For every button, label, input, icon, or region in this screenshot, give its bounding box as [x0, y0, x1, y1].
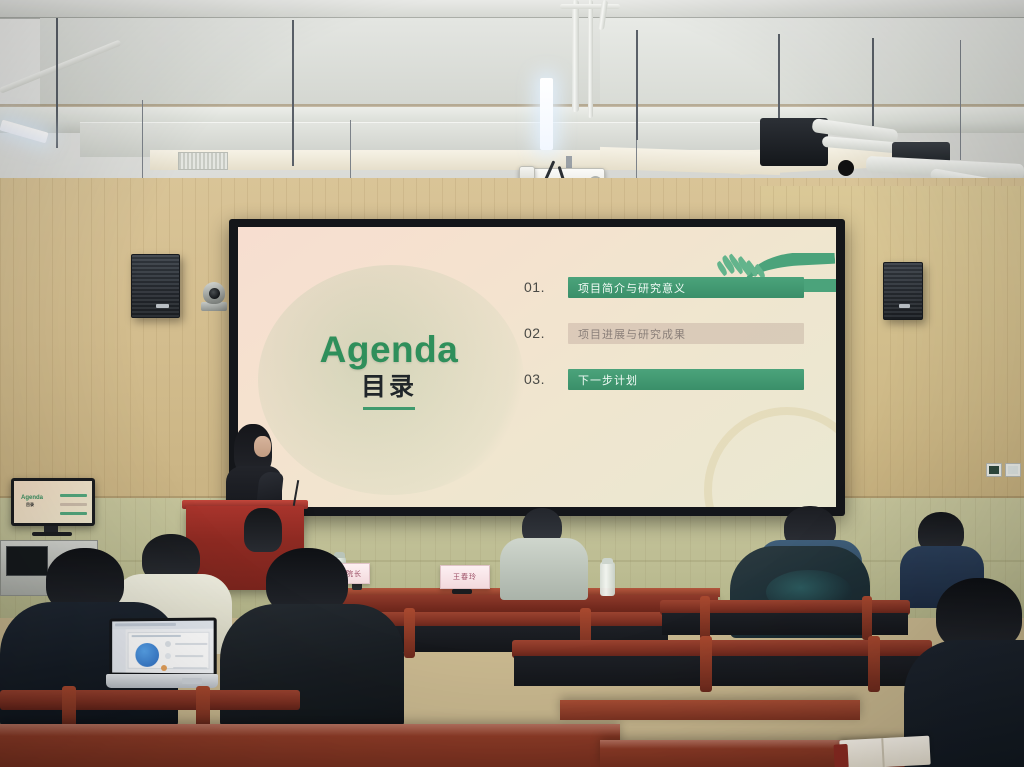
ceiling — [0, 0, 1024, 196]
presenter — [222, 424, 284, 510]
agenda-item-label: 下一步计划 — [578, 372, 638, 388]
foreground-desk — [560, 700, 860, 720]
wall-speaker-left — [131, 254, 180, 318]
slide-title-block: Agenda 目录 — [278, 331, 500, 410]
laptop-screen — [112, 621, 213, 674]
agenda-item-bar: 下一步计划 — [568, 369, 804, 390]
agenda-item-label: 项目简介与研究意义 — [578, 280, 686, 296]
open-book — [839, 736, 930, 767]
laptop[interactable] — [106, 618, 218, 694]
ceiling-vent — [178, 152, 228, 170]
monitor-title-cn: 目录 — [26, 502, 34, 508]
agenda-item: 01. 项目简介与研究意义 — [524, 277, 806, 299]
wall-plate-right[interactable] — [1005, 463, 1021, 477]
phone-on-table — [452, 589, 472, 594]
projection-screen: Agenda 目录 01. 项目简介与研究意义 02. 项目进展与研究成果 — [229, 219, 845, 516]
slide-background-arc — [704, 407, 836, 507]
laptop-chart-circle — [135, 643, 159, 667]
agenda-item-label: 项目进展与研究成果 — [578, 326, 686, 342]
agenda-item: 02. 项目进展与研究成果 — [524, 323, 806, 345]
water-bottle — [600, 562, 615, 596]
name-placard: 王春玲 — [440, 565, 490, 589]
wall-plate-left[interactable] — [986, 463, 1002, 477]
ceiling-light — [540, 78, 553, 150]
slide-title-cn: 目录 — [278, 375, 500, 400]
laptop-lid — [109, 617, 216, 676]
title-underline — [363, 407, 415, 410]
book-cover — [834, 744, 849, 767]
agenda-item: 03. 下一步计划 — [524, 369, 806, 391]
audience-head — [244, 508, 282, 552]
presenter-face — [254, 436, 271, 457]
bench-desk — [0, 690, 300, 710]
audience-torso — [500, 538, 588, 600]
laptop-trackpad[interactable] — [182, 678, 202, 684]
placard-text: 王春玲 — [453, 572, 477, 582]
agenda-item-number: 03. — [524, 371, 558, 387]
agenda-item-bar: 项目简介与研究意义 — [568, 277, 804, 298]
confidence-monitor: Agenda 目录 — [11, 478, 95, 526]
slide-title-en: Agenda — [278, 331, 500, 368]
lecture-hall-photo: Agenda 目录 01. 项目简介与研究意义 02. 项目进展与研究成果 — [0, 0, 1024, 767]
audience-member — [232, 508, 292, 568]
agenda-item-number: 01. — [524, 279, 558, 295]
monitor-title-en: Agenda — [21, 495, 43, 501]
audience-member — [918, 578, 1024, 767]
agenda-list: 01. 项目简介与研究意义 02. 项目进展与研究成果 03. 下一步计划 — [524, 277, 806, 415]
monitor-foot — [32, 532, 72, 536]
slide-surface: Agenda 目录 01. 项目简介与研究意义 02. 项目进展与研究成果 — [238, 227, 836, 507]
agenda-item-number: 02. — [524, 325, 558, 341]
audience-member — [500, 508, 588, 600]
wall-speaker-right — [883, 262, 923, 320]
agenda-item-bar: 项目进展与研究成果 — [568, 323, 804, 344]
